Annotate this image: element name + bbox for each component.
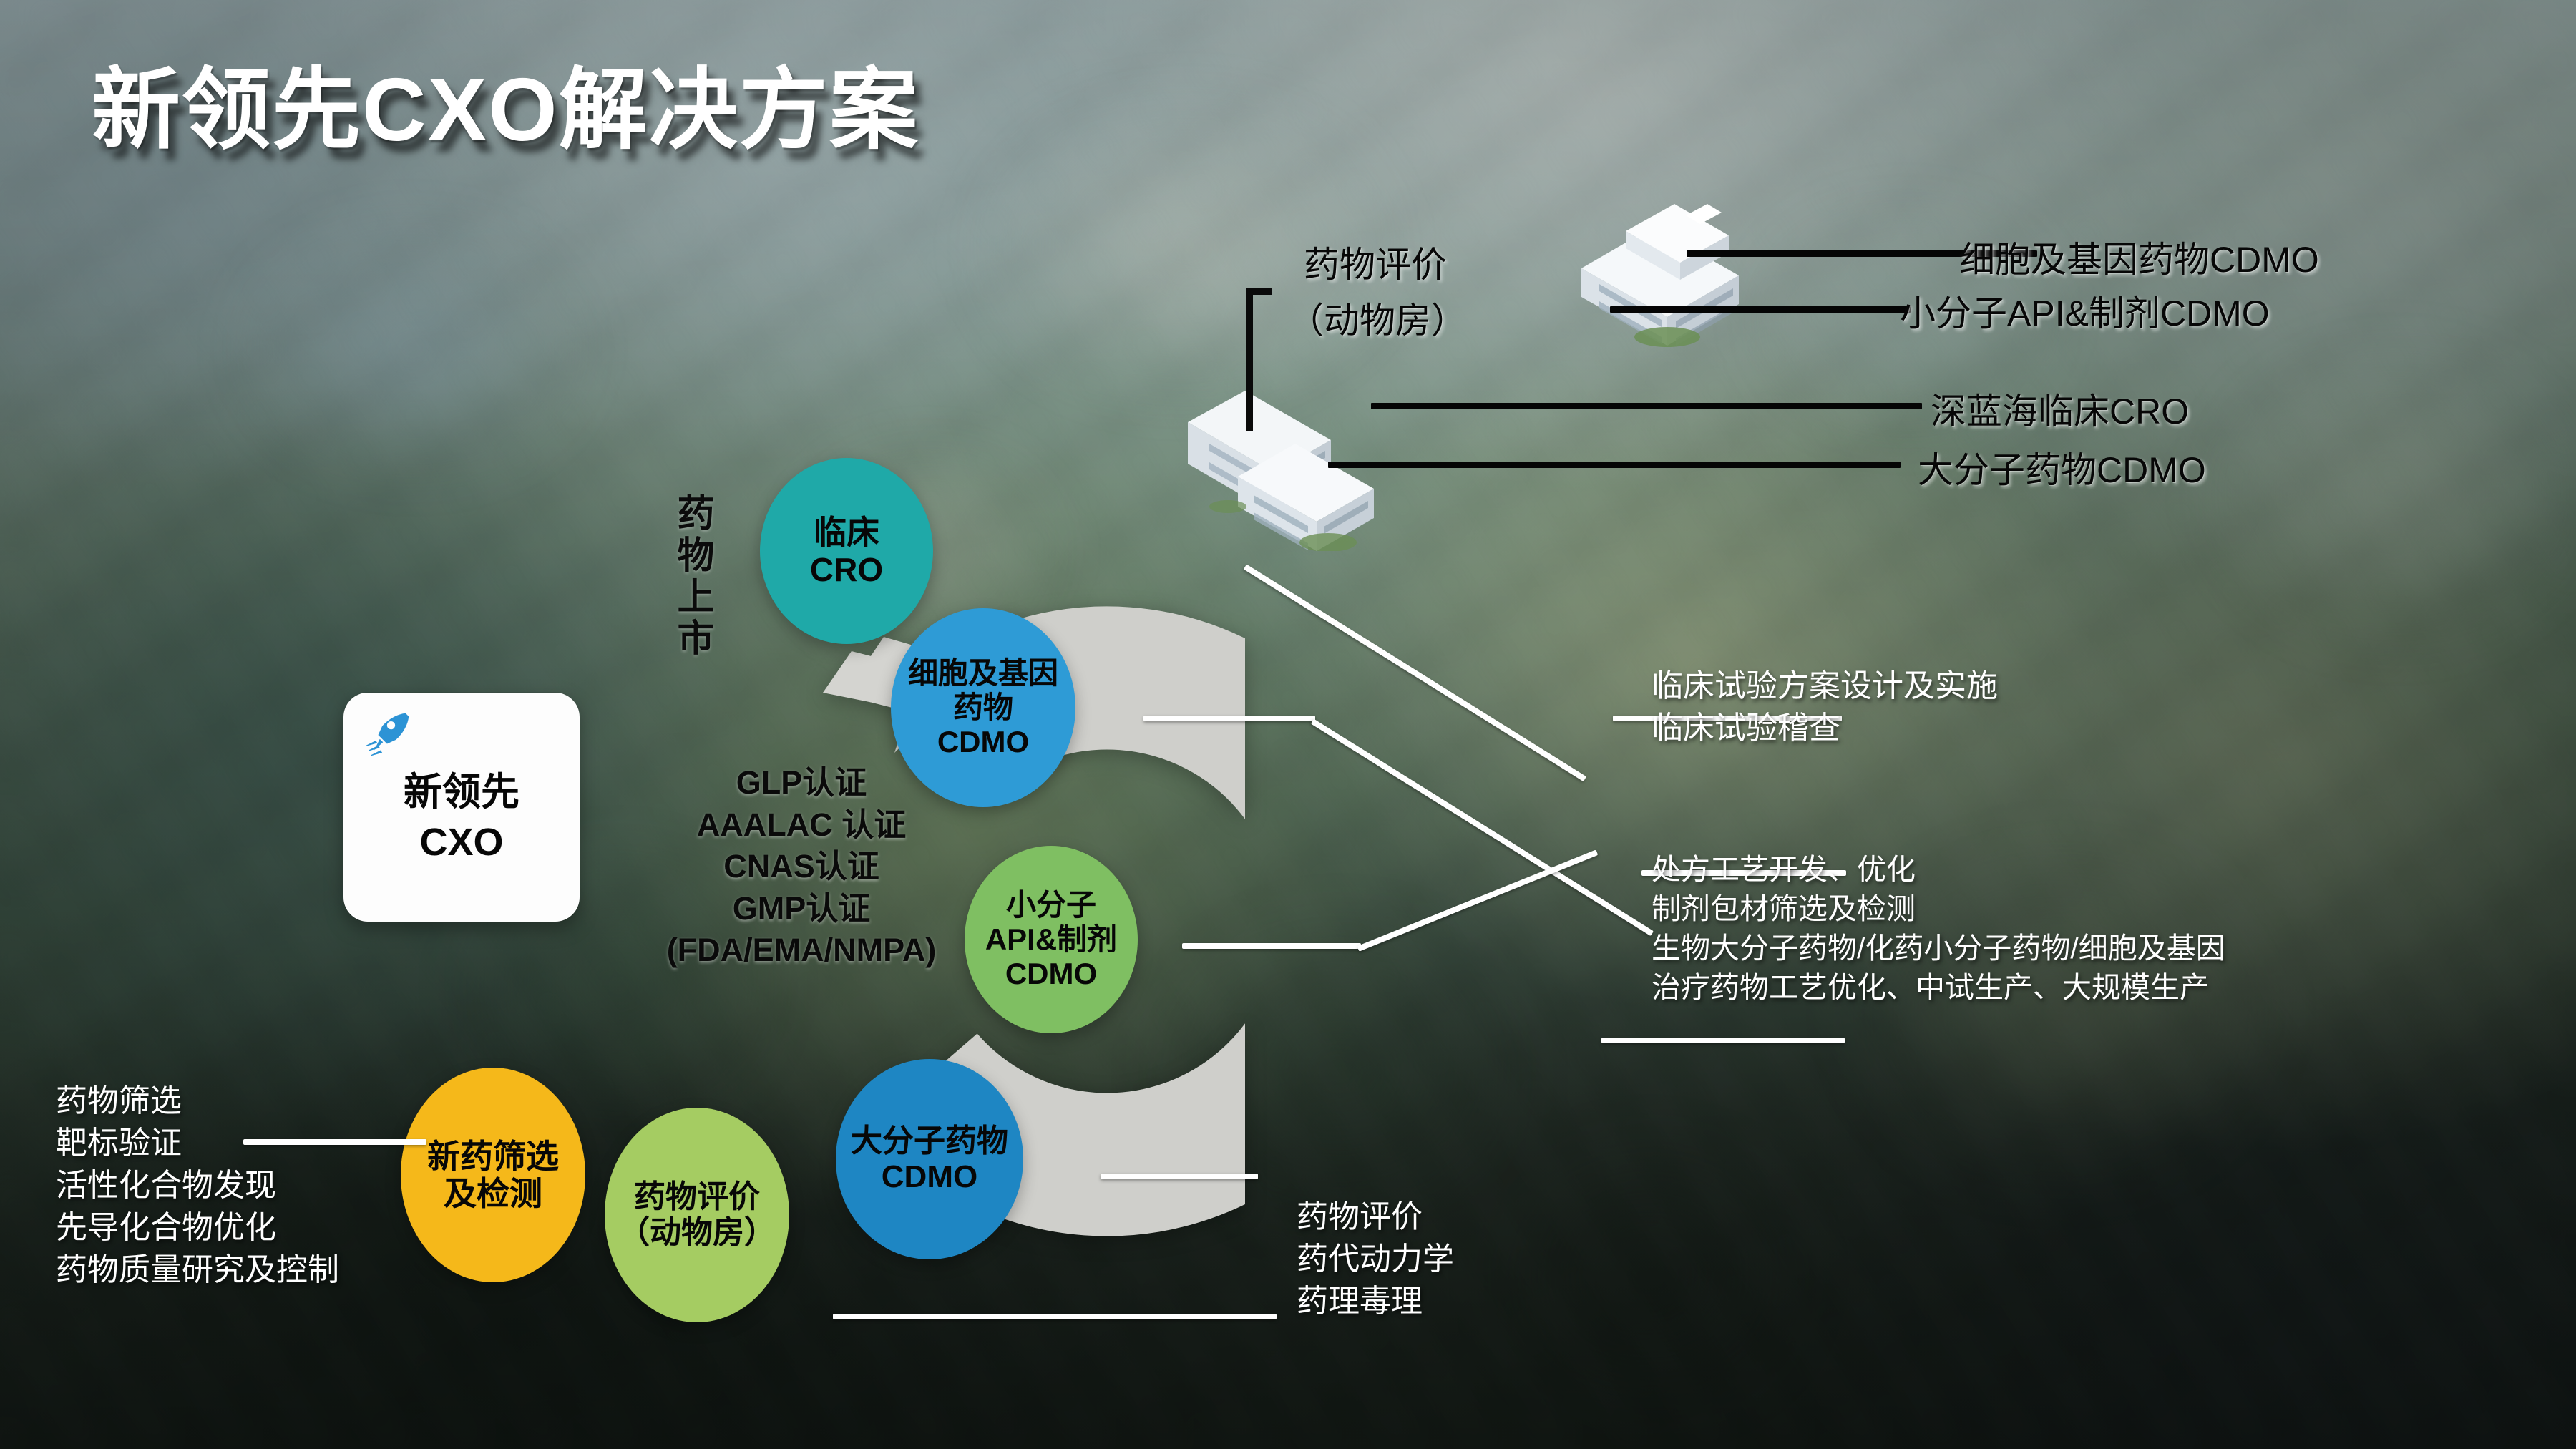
node-small-molecule-cdmo-label: 小分子API&制剂CDMO bbox=[978, 888, 1124, 991]
label-animal-house-line2: （动物房） bbox=[1288, 292, 1467, 343]
certification-item: GMP认证 bbox=[601, 888, 1002, 930]
callout-discovery-line: 药物质量研究及控制 bbox=[56, 1249, 339, 1292]
callout-cmc-line: 生物大分子药物/化药小分子药物/细胞及基因 bbox=[1652, 929, 2225, 968]
label-small-api-cdmo: 小分子API&制剂CDMO bbox=[1900, 285, 2270, 336]
node-large-molecule-cdmo[interactable]: 大分子药物CDMO bbox=[836, 1059, 1023, 1259]
label-cell-gene-cdmo: 细胞及基因药物CDMO bbox=[1959, 231, 2319, 283]
callout-cmc-line: 制剂包材筛选及检测 bbox=[1652, 889, 2225, 929]
node-clinical-cro-label: 临床CRO bbox=[803, 514, 890, 589]
node-small-molecule-cdmo[interactable]: 小分子API&制剂CDMO bbox=[965, 846, 1138, 1033]
certification-item: (FDA/EMA/NMPA) bbox=[601, 930, 1002, 972]
building-cdmo-campus bbox=[1560, 190, 1796, 369]
label-large-molecule: 大分子药物CDMO bbox=[1918, 441, 2206, 493]
callout-preclinical: 药物评价 药代动力学 药理毒理 bbox=[1297, 1196, 1454, 1323]
callout-clinical-line: 临床试验稽查 bbox=[1652, 708, 1998, 750]
leader-line-small-api bbox=[1610, 306, 1911, 313]
leader-bracket-animal-house bbox=[1246, 288, 1272, 431]
node-drug-evaluation-label: 药物评价（动物房） bbox=[611, 1179, 783, 1251]
callout-preclinical-line: 药代动力学 bbox=[1297, 1239, 1454, 1281]
certification-item: AAALAC 认证 bbox=[601, 804, 1002, 847]
node-drug-screening-label: 新药筛选及检测 bbox=[420, 1138, 566, 1213]
leader-small-molecule-horizontal bbox=[1182, 943, 1361, 949]
callout-discovery: 药物筛选 靶标验证 活性化合物发现 先导化合物优化 药物质量研究及控制 bbox=[56, 1080, 339, 1292]
callout-clinical-line: 临床试验方案设计及实施 bbox=[1652, 665, 1998, 708]
center-card-line1: 新领先 bbox=[343, 767, 580, 817]
center-card-text: 新领先 CXO bbox=[343, 767, 580, 867]
callout-discovery-line: 药物筛选 bbox=[56, 1080, 339, 1123]
page-title: 新领先CXO解决方案 bbox=[92, 37, 919, 166]
center-card-line2: CXO bbox=[343, 817, 580, 867]
leader-preclinical-horizontal bbox=[833, 1314, 1277, 1319]
leader-cmc-horizontal-left bbox=[1143, 716, 1315, 721]
node-large-molecule-cdmo-label: 大分子药物CDMO bbox=[844, 1123, 1015, 1195]
callout-discovery-line: 活性化合物发现 bbox=[56, 1165, 339, 1207]
leader-large-molecule-horizontal bbox=[1101, 1174, 1258, 1179]
certification-item: CNAS认证 bbox=[601, 846, 1002, 888]
callout-clinical: 临床试验方案设计及实施 临床试验稽查 bbox=[1652, 665, 1998, 750]
node-cell-gene-cdmo-label: 细胞及基因药物CDMO bbox=[901, 656, 1065, 759]
arrow-label-drug-launch: 药物上市 bbox=[665, 494, 719, 660]
node-clinical-cro[interactable]: 临床CRO bbox=[760, 458, 933, 644]
infographic-canvas: 新领先CXO解决方案 bbox=[0, 0, 2576, 1449]
node-cell-gene-cdmo[interactable]: 细胞及基因药物CDMO bbox=[891, 608, 1075, 807]
callout-cmc-line: 处方工艺开发、优化 bbox=[1652, 850, 2225, 889]
leader-cmc-tail bbox=[1601, 1038, 1845, 1043]
leader-line-deep-blue-cro bbox=[1371, 403, 1922, 409]
callout-preclinical-line: 药理毒理 bbox=[1297, 1281, 1454, 1323]
rocket-icon bbox=[362, 708, 414, 760]
node-drug-evaluation[interactable]: 药物评价（动物房） bbox=[605, 1108, 789, 1322]
callout-discovery-line: 先导化合物优化 bbox=[56, 1207, 339, 1249]
center-card-xinlingxian-cxo[interactable]: 新领先 CXO bbox=[343, 693, 580, 922]
label-animal-house-line1: 药物评价 bbox=[1304, 236, 1447, 288]
node-drug-screening[interactable]: 新药筛选及检测 bbox=[401, 1068, 585, 1282]
callout-preclinical-line: 药物评价 bbox=[1297, 1196, 1454, 1239]
label-deep-blue-cro: 深蓝海临床CRO bbox=[1931, 383, 2189, 434]
callout-discovery-line: 靶标验证 bbox=[56, 1123, 339, 1165]
callout-cmc-line: 治疗药物工艺优化、中试生产、大规模生产 bbox=[1652, 968, 2225, 1008]
leader-line-large-molecule bbox=[1328, 462, 1901, 468]
callout-cmc: 处方工艺开发、优化 制剂包材筛选及检测 生物大分子药物/化药小分子药物/细胞及基… bbox=[1652, 850, 2225, 1008]
